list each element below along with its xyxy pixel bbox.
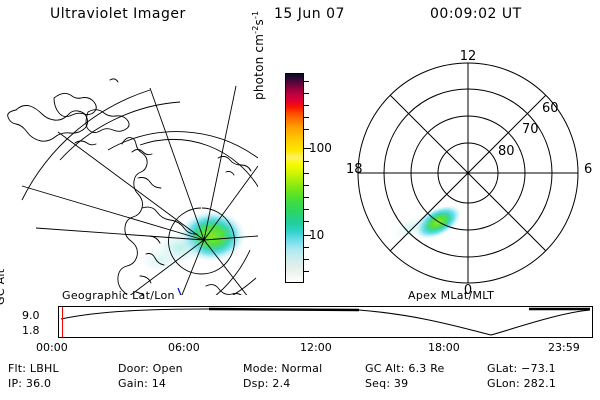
- page-title: Ultraviolet Imager: [50, 6, 186, 22]
- aurora-emission-apex: [387, 193, 468, 257]
- mlat-label-80: 80: [498, 144, 515, 159]
- status-dsp: Dsp: 2.4: [243, 377, 290, 390]
- ground-track-segment: [178, 288, 196, 295]
- status-glon: GLon: 282.1: [487, 377, 556, 390]
- header-date: 15 Jun 07: [274, 6, 345, 22]
- orbit-xtick-4: 23:59: [548, 341, 580, 354]
- apex-mlat-mlt-panel[interactable]: 12 6 0 18 60 70 80: [330, 40, 600, 295]
- apex-panel-caption: Apex MLat/MLT: [408, 289, 494, 302]
- status-door: Door: Open: [118, 362, 183, 375]
- mlt-label-18: 18: [346, 162, 363, 177]
- colorbar[interactable]: [285, 73, 304, 283]
- orbit-xtick-3: 18:00: [428, 341, 460, 354]
- orbit-apogee-segment: [209, 309, 359, 310]
- mlt-label-6: 6: [584, 162, 592, 177]
- mlat-label-60: 60: [542, 101, 559, 116]
- orbit-ytick-high: 9.0: [22, 309, 40, 322]
- orbit-altitude-curve: [61, 309, 590, 335]
- status-filter: Flt: LBHL: [8, 362, 59, 375]
- aurora-emission-geographic: [138, 210, 246, 274]
- status-glat: GLat: −73.1: [487, 362, 556, 375]
- status-mode: Mode: Normal: [243, 362, 322, 375]
- status-ip: IP: 36.0: [8, 377, 51, 390]
- status-gc-alt: GC Alt: 6.3 Re: [365, 362, 445, 375]
- header-time: 00:09:02 UT: [430, 6, 522, 22]
- status-bar: Flt: LBHL IP: 36.0 Door: Open Gain: 14 M…: [0, 362, 600, 396]
- geographic-map-panel[interactable]: [0, 40, 258, 295]
- status-seq: Seq: 39: [365, 377, 408, 390]
- header: Ultraviolet Imager 15 Jun 07 00:09:02 UT: [0, 6, 600, 28]
- orbit-track-svg: [59, 307, 592, 337]
- colorbar-axis-title: photon cm-2s-1: [251, 72, 266, 100]
- orbit-xtick-1: 06:00: [168, 341, 200, 354]
- orbit-y-axis-label: GC Alt: [0, 265, 7, 305]
- status-gain: Gain: 14: [118, 377, 166, 390]
- colorbar-gradient: [285, 73, 304, 283]
- current-time-marker: [62, 307, 63, 337]
- orbit-xtick-2: 12:00: [300, 341, 332, 354]
- colorbar-tick-label-10: 10: [309, 228, 324, 242]
- uvi-display: Ultraviolet Imager 15 Jun 07 00:09:02 UT: [0, 0, 600, 400]
- colorbar-ticks: [304, 73, 311, 283]
- colorbar-tick-label-100: 100: [309, 141, 332, 155]
- geographic-panel-caption: Geographic Lat/Lon: [62, 289, 175, 302]
- orbit-altitude-plot[interactable]: [58, 306, 593, 338]
- mlt-label-12: 12: [460, 49, 477, 64]
- apex-polar-grid: [358, 63, 578, 283]
- orbit-xtick-0: 00:00: [36, 341, 68, 354]
- coastline-outlines: [8, 79, 251, 295]
- orbit-ytick-low: 1.8: [22, 324, 40, 337]
- mlat-label-70: 70: [522, 122, 539, 137]
